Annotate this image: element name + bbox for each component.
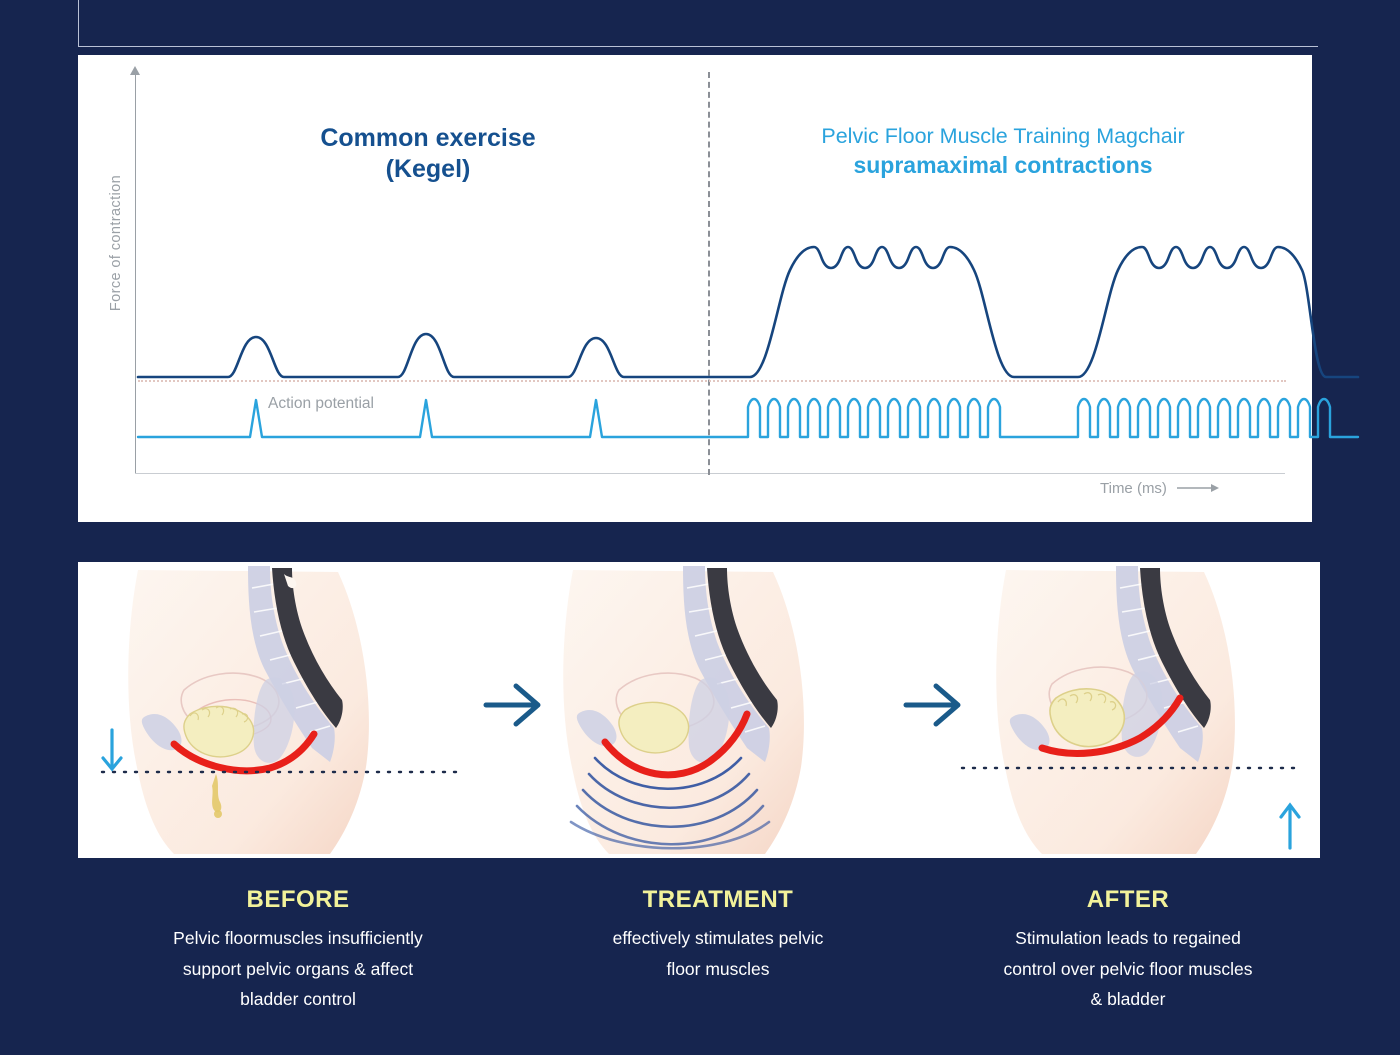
caption-before-body: Pelvic floormuscles insufficiently suppo… — [108, 923, 488, 1015]
up-arrow-icon — [1281, 805, 1299, 848]
illustration-before — [98, 562, 468, 858]
caption-before-title: BEFORE — [108, 886, 488, 914]
caption-before-line-2: support pelvic organs & affect — [108, 954, 488, 985]
illustration-after — [958, 562, 1308, 858]
caption-treatment-line-2: floor muscles — [518, 954, 918, 985]
frame-line-horizontal — [78, 46, 1318, 47]
caption-after-line-3: & bladder — [928, 984, 1328, 1015]
caption-after-line-1: Stimulation leads to regained — [928, 923, 1328, 954]
caption-treatment-title: TREATMENT — [518, 886, 918, 914]
caption-treatment: TREATMENT effectively stimulates pelvic … — [518, 886, 918, 984]
action-potential-label: Action potential — [268, 395, 374, 413]
frame-line-vertical — [78, 0, 79, 46]
caption-after-body: Stimulation leads to regained control ov… — [928, 923, 1328, 1015]
illustration-treatment — [533, 562, 903, 858]
action-potential-curve — [78, 55, 1312, 522]
caption-before: BEFORE Pelvic floormuscles insufficientl… — [108, 886, 488, 1015]
caption-after-title: AFTER — [928, 886, 1328, 914]
caption-treatment-line-1: effectively stimulates pelvic — [518, 923, 918, 954]
caption-after-line-2: control over pelvic floor muscles — [928, 954, 1328, 985]
captions-row: BEFORE Pelvic floormuscles insufficientl… — [78, 886, 1320, 1046]
caption-after: AFTER Stimulation leads to regained cont… — [928, 886, 1328, 1015]
caption-before-line-1: Pelvic floormuscles insufficiently — [108, 923, 488, 954]
down-arrow-icon — [103, 730, 121, 769]
illustration-panel — [78, 562, 1320, 858]
contraction-chart-panel: Force of contraction Time (ms) Common ex… — [78, 55, 1312, 522]
caption-treatment-body: effectively stimulates pelvic floor musc… — [518, 923, 918, 984]
caption-before-line-3: bladder control — [108, 984, 488, 1015]
